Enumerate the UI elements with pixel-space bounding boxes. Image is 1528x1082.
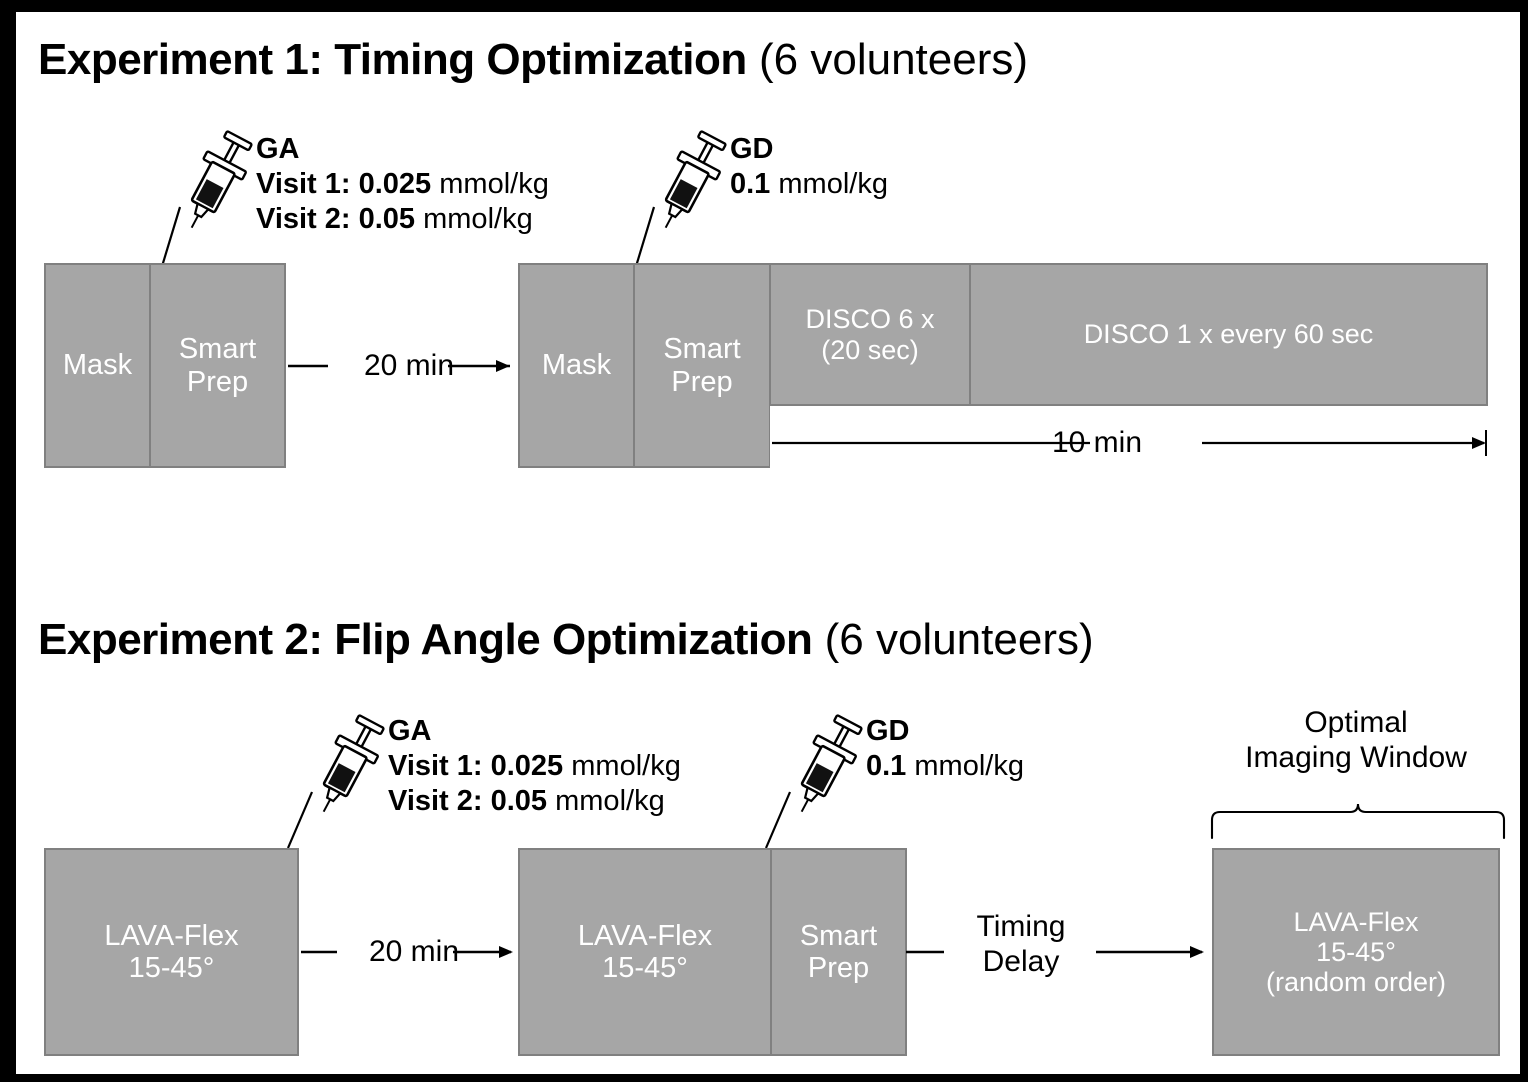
experiment2-title-regular: (6 volunteers) — [812, 615, 1093, 664]
injection-dose-unit: mmol/kg — [906, 750, 1024, 782]
injection-dose-unit: mmol/kg — [415, 203, 533, 235]
experiment1-title: Experiment 1: Timing Optimization (6 vol… — [38, 38, 1028, 82]
syringe-icon — [656, 130, 726, 230]
injection-dose-bold: Visit 1: 0.025 — [388, 750, 563, 782]
figure-canvas: Experiment 1: Timing Optimization (6 vol… — [16, 12, 1520, 1074]
exp1-duration-arrow-label: 10 min — [1032, 426, 1162, 461]
injection-dose-row: 0.1 mmol/kg — [866, 749, 1024, 784]
process-box-mask[interactable]: Mask — [518, 263, 634, 468]
injection-dose-unit: mmol/kg — [770, 168, 888, 200]
experiment2-title: Experiment 2: Flip Angle Optimization (6… — [38, 618, 1094, 662]
optimal-imaging-window-line2: Imaging Window — [1196, 741, 1516, 776]
injection-dose-bold: Visit 2: 0.05 — [256, 203, 415, 235]
process-box-smart-prep[interactable]: Smart Prep — [150, 263, 286, 468]
injection-dose-row: Visit 2: 0.05 mmol/kg — [256, 202, 549, 237]
injection-agent-name: GA — [256, 132, 549, 167]
syringe-icon — [792, 714, 862, 814]
injection-dose-unit: mmol/kg — [431, 168, 549, 200]
injection-label-ga-exp1: GA Visit 1: 0.025 mmol/kg Visit 2: 0.05 … — [256, 132, 549, 236]
process-box-lava-flex-2[interactable]: LAVA-Flex 15-45° — [518, 848, 771, 1056]
injection-agent-name: GA — [388, 714, 681, 749]
process-box-disco-1x[interactable]: DISCO 1 x every 60 sec — [970, 263, 1488, 406]
injection-dose-row: Visit 1: 0.025 mmol/kg — [388, 749, 681, 784]
syringe-icon — [182, 130, 252, 230]
syringe-icon — [314, 714, 384, 814]
exp1-interval-arrow-label: 20 min — [334, 349, 484, 384]
process-box-smart-prep[interactable]: Smart Prep — [771, 848, 907, 1056]
process-box-smart-prep[interactable]: Smart Prep — [634, 263, 770, 468]
injection-dose-unit: mmol/kg — [547, 785, 665, 817]
experiment2-title-bold: Experiment 2: Flip Angle Optimization — [38, 615, 812, 664]
injection-dose-bold: Visit 2: 0.05 — [388, 785, 547, 817]
figure-frame: Experiment 1: Timing Optimization (6 vol… — [0, 0, 1528, 1082]
injection-agent-name: GD — [730, 132, 888, 167]
injection-label-ga-exp2: GA Visit 1: 0.025 mmol/kg Visit 2: 0.05 … — [388, 714, 681, 818]
process-box-lava-flex-random[interactable]: LAVA-Flex 15-45° (random order) — [1212, 848, 1500, 1056]
optimal-imaging-window-brace — [1210, 798, 1510, 840]
experiment1-title-regular: (6 volunteers) — [747, 35, 1028, 84]
experiment1-title-bold: Experiment 1: Timing Optimization — [38, 35, 747, 84]
exp2-delay-arrow-label: Timing Delay — [946, 910, 1096, 979]
injection-dose-bold: Visit 1: 0.025 — [256, 168, 431, 200]
exp2-interval-arrow-label: 20 min — [344, 935, 484, 970]
injection-dose-row: 0.1 mmol/kg — [730, 167, 888, 202]
optimal-imaging-window-line1: Optimal — [1196, 706, 1516, 741]
optimal-imaging-window-label: Optimal Imaging Window — [1196, 706, 1516, 775]
exp2-sequence-group: LAVA-Flex 15-45° Smart Prep — [518, 848, 907, 1056]
exp1-sequence-group-a: Mask Smart Prep — [44, 263, 286, 468]
injection-dose-unit: mmol/kg — [563, 750, 681, 782]
injection-label-gd-exp2: GD 0.1 mmol/kg — [866, 714, 1024, 784]
process-box-disco-6x[interactable]: DISCO 6 x (20 sec) — [770, 263, 970, 406]
injection-agent-name: GD — [866, 714, 1024, 749]
injection-dose-bold: 0.1 — [730, 168, 770, 200]
injection-label-gd-exp1: GD 0.1 mmol/kg — [730, 132, 888, 202]
process-box-mask[interactable]: Mask — [44, 263, 150, 468]
injection-needle-line-gd-exp2 — [750, 792, 796, 852]
injection-dose-bold: 0.1 — [866, 750, 906, 782]
injection-dose-row: Visit 2: 0.05 mmol/kg — [388, 784, 681, 819]
injection-needle-line-ga-exp2 — [272, 792, 318, 852]
injection-dose-row: Visit 1: 0.025 mmol/kg — [256, 167, 549, 202]
process-box-lava-flex-1[interactable]: LAVA-Flex 15-45° — [44, 848, 299, 1056]
